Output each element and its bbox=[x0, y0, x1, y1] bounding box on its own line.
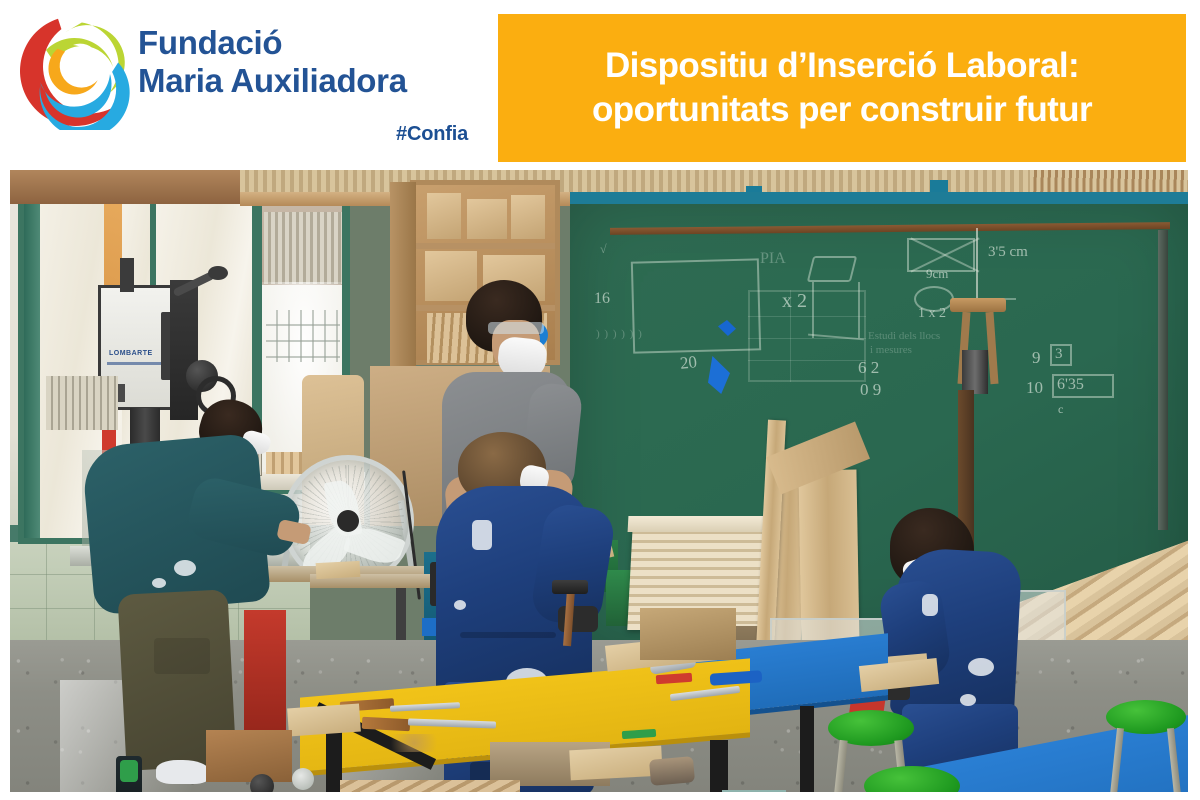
wall-post-right bbox=[1158, 230, 1168, 530]
title-line-2: oportunitats per construir futur bbox=[592, 88, 1092, 132]
scrap-wood-under-table bbox=[340, 780, 520, 792]
brand-hashtag: #Confia bbox=[138, 123, 468, 146]
trolley-wood-box bbox=[206, 730, 292, 782]
brand-line-1: Fundació bbox=[138, 24, 478, 62]
plywood-top-sheet bbox=[628, 516, 773, 532]
stool-7 bbox=[1100, 700, 1188, 792]
stool-6 bbox=[856, 766, 976, 792]
hammer-head bbox=[552, 580, 588, 594]
wood-piece-yellow-table bbox=[287, 704, 361, 737]
bottle-cap-green bbox=[120, 760, 138, 782]
brand-line-2: Maria Auxiliadora bbox=[138, 62, 478, 100]
hanging-weight bbox=[962, 350, 988, 394]
cabinet-side-panel bbox=[170, 280, 198, 420]
title-line-1: Dispositiu d’Inserció Laboral: bbox=[605, 44, 1079, 88]
sawdust bbox=[382, 734, 446, 752]
hanging-clamp bbox=[950, 298, 1006, 312]
blue-tape-mark-2 bbox=[708, 356, 730, 394]
fundacio-swirl-logo-icon bbox=[16, 12, 134, 130]
yellow-table-leg-right bbox=[710, 740, 728, 792]
blue-table-leg bbox=[800, 706, 814, 792]
workshop-photograph: 16 20 x 2 √ PIA 9cm 3'5 cm 1 x 2 ) ) ) )… bbox=[10, 170, 1188, 792]
tool-hammer-handle bbox=[362, 717, 411, 731]
caster-wheel bbox=[292, 768, 314, 790]
hanging-string bbox=[976, 228, 978, 300]
cardboard-box bbox=[640, 608, 736, 660]
brand-wordmark: Fundació Maria Auxiliadora bbox=[138, 24, 478, 100]
shelf-side-panel bbox=[390, 182, 416, 366]
page-header: Fundació Maria Auxiliadora #Confia Dispo… bbox=[0, 0, 1200, 170]
safety-goggles bbox=[488, 322, 544, 334]
cabinet-vent bbox=[120, 258, 134, 292]
coat-belt bbox=[460, 632, 556, 638]
stool-4 bbox=[138, 786, 258, 792]
sanding-block bbox=[649, 756, 695, 786]
chalkboard-top-trim bbox=[570, 192, 1188, 204]
wood-offcut-bench bbox=[316, 561, 361, 579]
machine-label: LOMBARTE bbox=[109, 350, 153, 357]
title-banner: Dispositiu d’Inserció Laboral: oportunit… bbox=[498, 14, 1186, 162]
worker-left-shoe bbox=[156, 760, 210, 784]
trolley-wheel bbox=[250, 774, 274, 792]
red-trolley bbox=[244, 610, 286, 730]
machine-knob bbox=[208, 266, 228, 280]
green-cabinet-2 bbox=[722, 790, 786, 792]
